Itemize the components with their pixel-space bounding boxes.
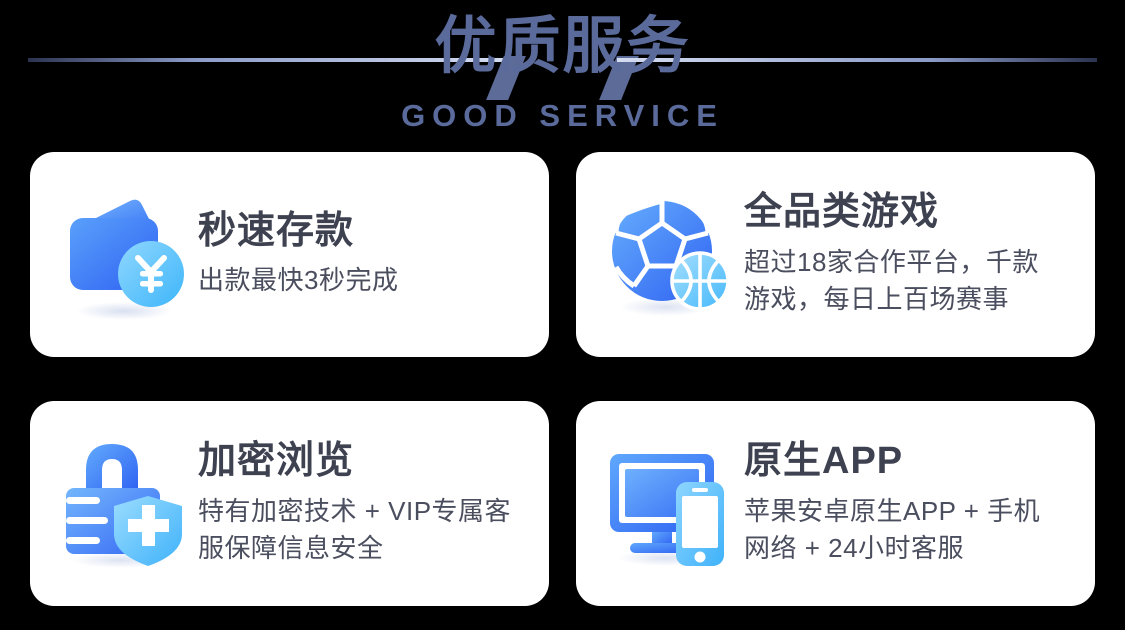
page-subtitle: GOOD SERVICE (0, 98, 1125, 134)
card-subtitle: 超过18家合作平台，千款 游戏，每日上百场赛事 (744, 244, 1069, 318)
card-text-block: 秒速存款 出款最快3秒完成 (190, 210, 523, 300)
feature-card-encryption[interactable]: 加密浏览 特有加密技术 + VIP专属客 服保障信息安全 (30, 401, 549, 606)
page-title: 优质服务 (0, 8, 1125, 86)
wallet-yen-icon (58, 185, 190, 325)
card-text-block: 全品类游戏 超过18家合作平台，千款 游戏，每日上百场赛事 (736, 191, 1069, 318)
card-title: 加密浏览 (198, 440, 523, 484)
card-subtitle: 苹果安卓原生APP + 手机 网络 + 24小时客服 (744, 493, 1069, 567)
lock-shield-icon (58, 434, 190, 574)
feature-card-games[interactable]: 全品类游戏 超过18家合作平台，千款 游戏，每日上百场赛事 (576, 152, 1095, 357)
promo-page: 优质服务 GOOD SERVICE (0, 0, 1125, 630)
page-header: 优质服务 GOOD SERVICE (0, 0, 1125, 152)
card-text-block: 原生APP 苹果安卓原生APP + 手机 网络 + 24小时客服 (736, 440, 1069, 567)
monitor-phone-icon (604, 434, 736, 574)
soccer-basketball-icon (604, 185, 736, 325)
feature-card-native-app[interactable]: 原生APP 苹果安卓原生APP + 手机 网络 + 24小时客服 (576, 401, 1095, 606)
feature-card-grid: 秒速存款 出款最快3秒完成 (30, 152, 1095, 606)
card-subtitle: 出款最快3秒完成 (198, 262, 523, 299)
card-text-block: 加密浏览 特有加密技术 + VIP专属客 服保障信息安全 (190, 440, 523, 567)
card-title: 秒速存款 (198, 210, 523, 254)
card-title: 原生APP (744, 440, 1069, 484)
feature-card-deposit[interactable]: 秒速存款 出款最快3秒完成 (30, 152, 549, 357)
card-title: 全品类游戏 (744, 191, 1069, 235)
card-subtitle: 特有加密技术 + VIP专属客 服保障信息安全 (198, 493, 523, 567)
